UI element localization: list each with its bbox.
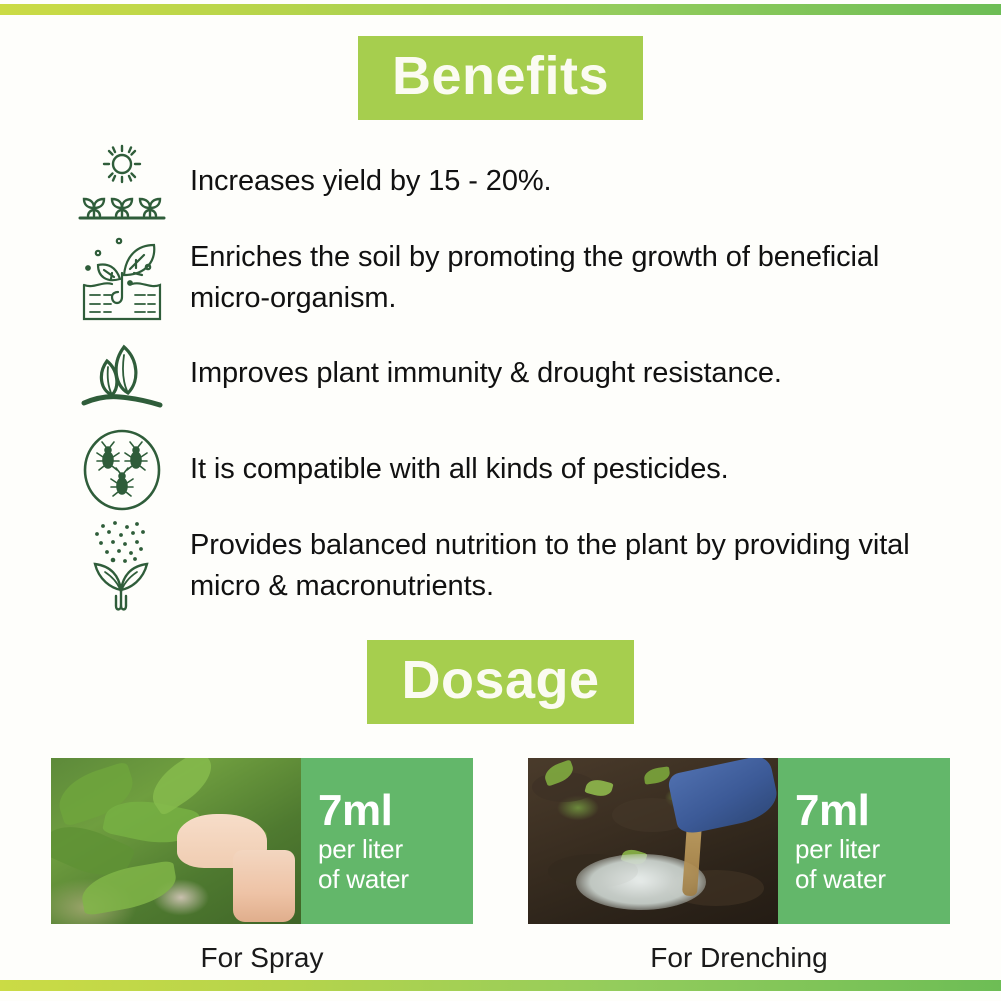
benefits-heading: Benefits: [358, 36, 643, 120]
infographic-page: Benefits: [0, 0, 1001, 1001]
benefit-text: Enriches the soil by promoting the growt…: [172, 237, 961, 319]
two-leaves-icon: [72, 335, 172, 413]
benefit-item: Provides balanced nutrition to the plant…: [72, 518, 961, 614]
benefit-text: Improves plant immunity & drought resist…: [172, 353, 782, 394]
benefit-item: It is compatible with all kinds of pesti…: [72, 422, 961, 518]
top-accent-rule: [0, 4, 1001, 15]
benefit-text: Increases yield by 15 - 20%.: [172, 161, 552, 202]
watering-can: [667, 758, 778, 836]
dosage-amount-panel: 7ml per liter of water: [301, 758, 473, 924]
drenching-soil-photo: [528, 758, 778, 924]
benefit-item: Improves plant immunity & drought resist…: [72, 326, 961, 422]
benefit-text: It is compatible with all kinds of pesti…: [172, 449, 729, 490]
benefit-item: Increases yield by 15 - 20%.: [72, 134, 961, 230]
dosage-heading-wrap: Dosage: [0, 640, 1001, 724]
dosage-caption: For Drenching: [528, 942, 950, 974]
dosage-banner: 7ml per liter of water: [528, 758, 950, 924]
dosage-cards: 7ml per liter of water For Spray: [0, 758, 1001, 974]
nutrients-on-plant-icon: [72, 518, 172, 614]
sun-over-seedlings-icon: [72, 142, 172, 222]
dosage-unit-line-2: of water: [318, 864, 473, 894]
dosage-amount: 7ml: [318, 788, 473, 834]
dosage-unit-line-2: of water: [795, 864, 950, 894]
spray-bottle: [233, 850, 295, 922]
benefit-text: Provides balanced nutrition to the plant…: [172, 525, 961, 607]
insects-in-circle-icon: [72, 428, 172, 512]
dosage-card-drenching: 7ml per liter of water For Drenching: [528, 758, 950, 974]
benefits-list: Increases yield by 15 - 20%.: [0, 134, 1001, 614]
dosage-heading: Dosage: [367, 640, 633, 724]
plant-in-soil-icon: [72, 235, 172, 321]
dosage-caption: For Spray: [51, 942, 473, 974]
dosage-card-spray: 7ml per liter of water For Spray: [51, 758, 473, 974]
dosage-unit-line-1: per liter: [795, 834, 950, 864]
benefits-heading-wrap: Benefits: [0, 36, 1001, 120]
dosage-amount-panel: 7ml per liter of water: [778, 758, 950, 924]
bottom-accent-rule: [0, 980, 1001, 991]
dosage-banner: 7ml per liter of water: [51, 758, 473, 924]
benefit-item: Enriches the soil by promoting the growt…: [72, 230, 961, 326]
spraying-plants-photo: [51, 758, 301, 924]
dosage-amount: 7ml: [795, 788, 950, 834]
dosage-unit-line-1: per liter: [318, 834, 473, 864]
